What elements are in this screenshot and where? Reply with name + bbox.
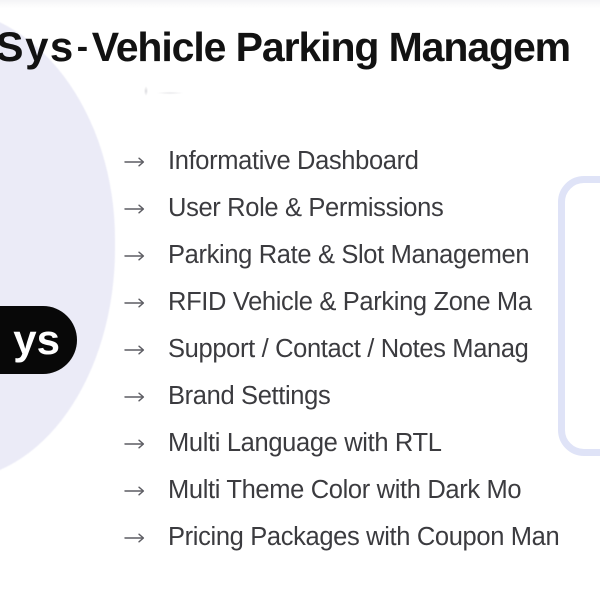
list-item: Multi Theme Color with Dark Mo (124, 467, 600, 514)
feature-list: Informative DashboardUser Role & Permiss… (124, 138, 600, 561)
arrow-right-icon (124, 295, 147, 311)
list-item-label: User Role & Permissions (168, 196, 443, 222)
list-item-label: RFID Vehicle & Parking Zone Ma (168, 290, 532, 316)
brand-badge-label: ys (13, 319, 60, 361)
list-item-label: Multi Theme Color with Dark Mo (168, 478, 521, 504)
background-smudge-artifact (140, 84, 188, 100)
decorative-blob-shape (0, 8, 115, 480)
list-item: Support / Contact / Notes Manag (124, 326, 600, 373)
list-item: Parking Rate & Slot Managemen (124, 232, 600, 279)
arrow-right-icon (124, 342, 147, 358)
page-title-subject: Vehicle Parking Managem (92, 24, 570, 70)
list-item-label: Multi Language with RTL (168, 431, 442, 457)
page-title-brand: arkSys (0, 23, 75, 70)
arrow-right-icon (124, 201, 147, 217)
list-item: RFID Vehicle & Parking Zone Ma (124, 279, 600, 326)
arrow-right-icon (124, 436, 147, 452)
arrow-right-icon (124, 389, 147, 405)
page-title-separator: - (75, 28, 92, 66)
list-item: Informative Dashboard (124, 138, 600, 185)
list-item-label: Informative Dashboard (168, 149, 419, 175)
arrow-right-icon (124, 248, 147, 264)
list-item: Pricing Packages with Coupon Man (124, 514, 600, 561)
list-item: Brand Settings (124, 373, 600, 420)
arrow-right-icon (124, 483, 147, 499)
list-item: Multi Language with RTL (124, 420, 600, 467)
list-item-label: Support / Contact / Notes Manag (168, 337, 529, 363)
brand-badge: ys (0, 306, 77, 374)
list-item: User Role & Permissions (124, 185, 600, 232)
arrow-right-icon (124, 530, 147, 546)
list-item-label: Pricing Packages with Coupon Man (168, 525, 559, 551)
promo-banner: arkSys-Vehicle Parking Managem ys Inform… (0, 0, 600, 600)
page-title: arkSys-Vehicle Parking Managem (0, 26, 570, 68)
arrow-right-icon (124, 154, 147, 170)
list-item-label: Brand Settings (168, 384, 330, 410)
list-item-label: Parking Rate & Slot Managemen (168, 243, 529, 269)
top-edge-haze (0, 0, 600, 9)
